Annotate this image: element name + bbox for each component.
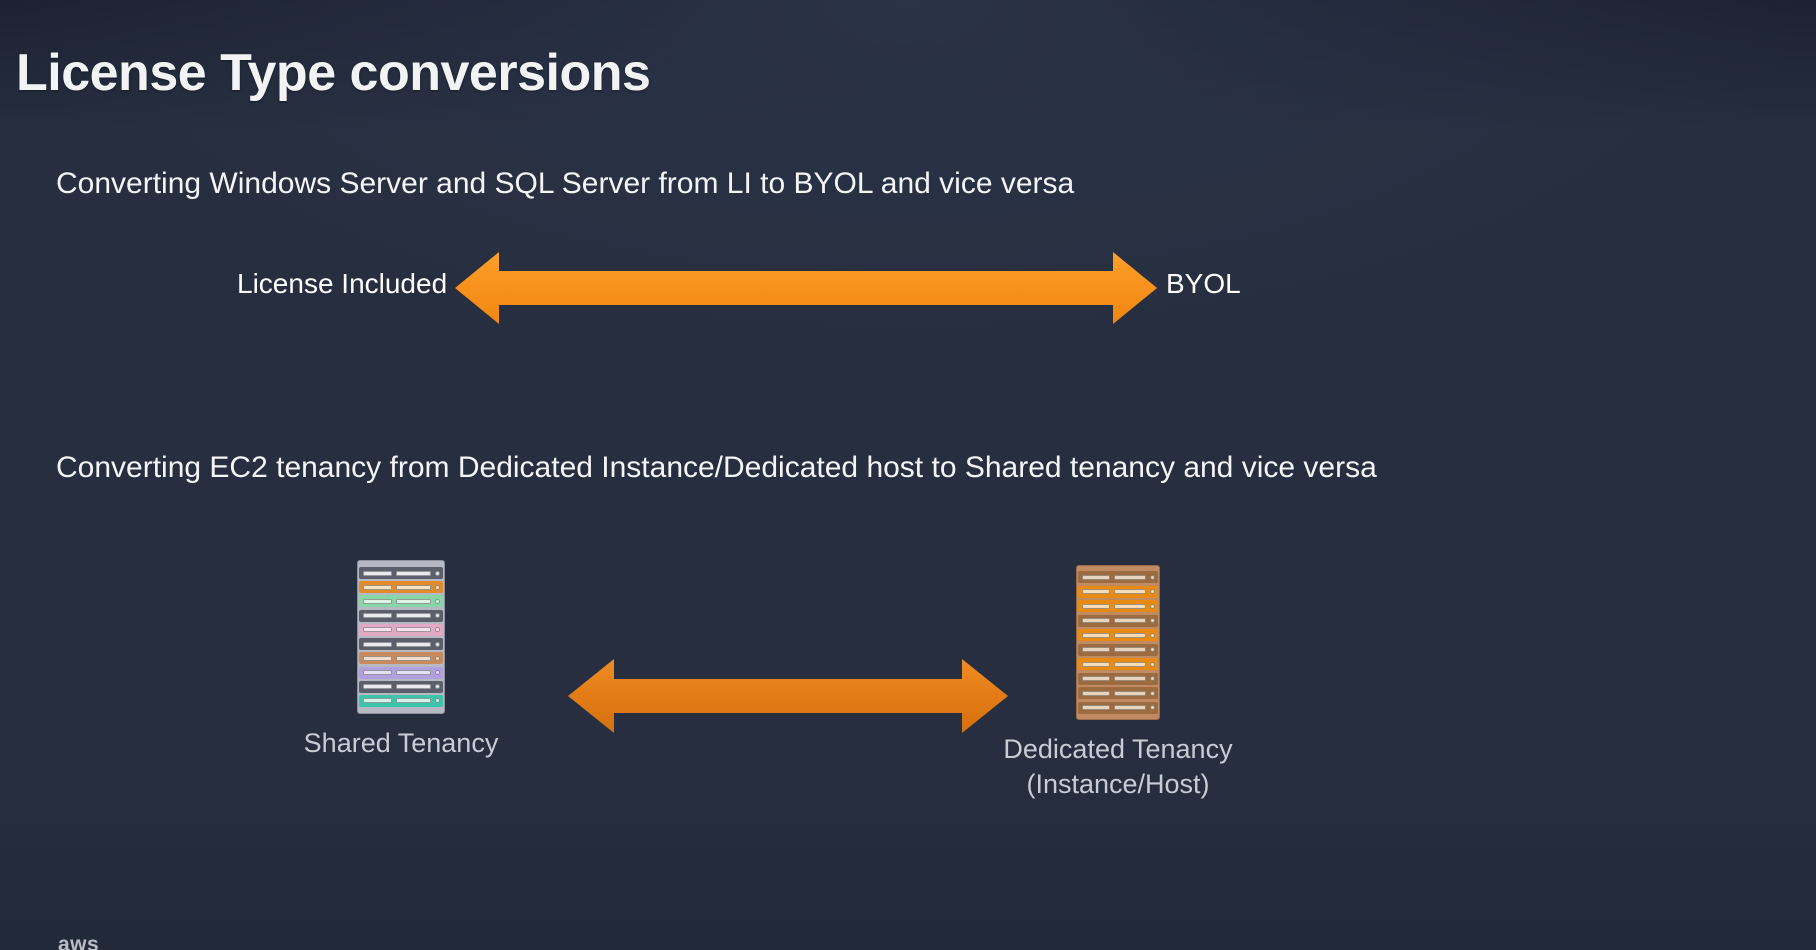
rack-slot-bar <box>1082 662 1110 667</box>
rack-slot-led-icon <box>435 613 440 618</box>
rack-slot-bar <box>1082 691 1110 696</box>
rack-slot <box>1078 702 1158 714</box>
label-shared-tenancy-line1: Shared Tenancy <box>300 726 502 761</box>
rack-slot-bar <box>1114 589 1146 594</box>
rack-slot <box>1078 615 1158 627</box>
label-dedicated-tenancy-line2: (Instance/Host) <box>1000 767 1236 802</box>
rack-slot-bar <box>1082 589 1110 594</box>
rack-slot <box>1078 600 1158 612</box>
rack-slot-bar <box>1082 647 1110 652</box>
rack-slot <box>359 595 443 607</box>
rack-slot <box>359 581 443 593</box>
rack-slot-bar <box>363 571 392 576</box>
label-shared-tenancy: Shared Tenancy <box>300 726 502 761</box>
rack-slot-led-icon <box>435 684 440 689</box>
dedicated-tenancy-group: Dedicated Tenancy (Instance/Host) <box>1000 565 1236 801</box>
rack-slot <box>1078 644 1158 656</box>
rack-slot <box>359 638 443 650</box>
rack-slot <box>359 567 443 579</box>
rack-slot-led-icon <box>435 571 440 576</box>
rack-slot-bar <box>396 698 431 703</box>
rack-slot-bar <box>396 627 431 632</box>
rack-slot-bar <box>1082 604 1110 609</box>
rack-slot-led-icon <box>435 642 440 647</box>
rack-slot <box>1078 687 1158 699</box>
rack-slot-bar <box>396 656 431 661</box>
rack-slot-bar <box>1114 633 1146 638</box>
rack-slot-bar <box>1114 604 1146 609</box>
rack-slot-led-icon <box>1150 589 1155 594</box>
rack-slot-bar <box>363 698 392 703</box>
rack-slot-bar <box>363 656 392 661</box>
rack-slot-bar <box>396 571 431 576</box>
rack-slot <box>359 624 443 636</box>
rack-slot-led-icon <box>1150 604 1155 609</box>
rack-slot-led-icon <box>1150 647 1155 652</box>
rack-slot-led-icon <box>1150 705 1155 710</box>
page-title: License Type conversions <box>16 43 650 104</box>
rack-slot-bar <box>396 599 431 604</box>
rack-slot-bar <box>1082 575 1110 580</box>
rack-slot-bar <box>363 613 392 618</box>
rack-slot-bar <box>396 642 431 647</box>
rack-slot-led-icon <box>1150 676 1155 681</box>
rack-slot-bar <box>363 670 392 675</box>
rack-slot-bar <box>1114 575 1146 580</box>
rack-slot-led-icon <box>435 698 440 703</box>
rack-slot-led-icon <box>1150 633 1155 638</box>
label-license-included: License Included <box>237 268 447 300</box>
rack-slot-bar <box>363 627 392 632</box>
rack-slot-bar <box>1114 662 1146 667</box>
rack-slot-led-icon <box>1150 618 1155 623</box>
rack-slot-led-icon <box>435 656 440 661</box>
rack-slot-bar <box>363 684 392 689</box>
rack-slot-bar <box>1082 676 1110 681</box>
rack-slot <box>1078 586 1158 598</box>
rack-slot <box>359 610 443 622</box>
rack-slot-bar <box>396 613 431 618</box>
rack-slot <box>359 695 443 707</box>
rack-slot <box>1078 658 1158 670</box>
rack-slot-led-icon <box>435 627 440 632</box>
rack-slot <box>359 681 443 693</box>
rack-slot <box>1078 629 1158 641</box>
rack-slot <box>1078 571 1158 583</box>
rack-slot <box>359 652 443 664</box>
rack-slot <box>1078 673 1158 685</box>
rack-slot-bar <box>1082 705 1110 710</box>
label-byol: BYOL <box>1166 268 1241 300</box>
tenancy-conversion-row: Shared Tenancy Dedicated Tenancy (Instan… <box>0 560 1816 900</box>
shared-tenancy-group: Shared Tenancy <box>300 560 502 761</box>
section-heading-tenancy: Converting EC2 tenancy from Dedicated In… <box>56 450 1377 486</box>
rack-slot-led-icon <box>1150 575 1155 580</box>
rack-slot-bar <box>1114 618 1146 623</box>
rack-slot-bar <box>1114 691 1146 696</box>
rack-slot-led-icon <box>435 670 440 675</box>
rack-slot-bar <box>1114 676 1146 681</box>
rack-slot-led-icon <box>1150 662 1155 667</box>
rack-slot-bar <box>363 585 392 590</box>
bidirectional-arrow-icon-tenancy <box>568 659 1008 733</box>
license-conversion-row: License Included BYOL <box>0 252 1816 332</box>
server-rack-icon-shared <box>357 560 445 714</box>
rack-slot <box>359 667 443 679</box>
rack-slot-bar <box>396 684 431 689</box>
rack-slot-bar <box>363 642 392 647</box>
bidirectional-arrow-icon <box>455 252 1157 324</box>
rack-slot-bar <box>363 599 392 604</box>
rack-slot-bar <box>1082 633 1110 638</box>
rack-slot-bar <box>1114 647 1146 652</box>
rack-slot-led-icon <box>1150 691 1155 696</box>
rack-slot-bar <box>396 670 431 675</box>
label-dedicated-tenancy: Dedicated Tenancy (Instance/Host) <box>1000 732 1236 801</box>
rack-slot-led-icon <box>435 585 440 590</box>
section-heading-license: Converting Windows Server and SQL Server… <box>56 166 1074 202</box>
rack-slot-bar <box>1114 705 1146 710</box>
label-dedicated-tenancy-line1: Dedicated Tenancy <box>1000 732 1236 767</box>
aws-logo: aws <box>58 934 99 950</box>
rack-slot-bar <box>396 585 431 590</box>
rack-slot-led-icon <box>435 599 440 604</box>
server-rack-icon-dedicated <box>1076 565 1160 720</box>
rack-slot-bar <box>1082 618 1110 623</box>
slide-canvas: License Type conversions Converting Wind… <box>0 0 1816 950</box>
